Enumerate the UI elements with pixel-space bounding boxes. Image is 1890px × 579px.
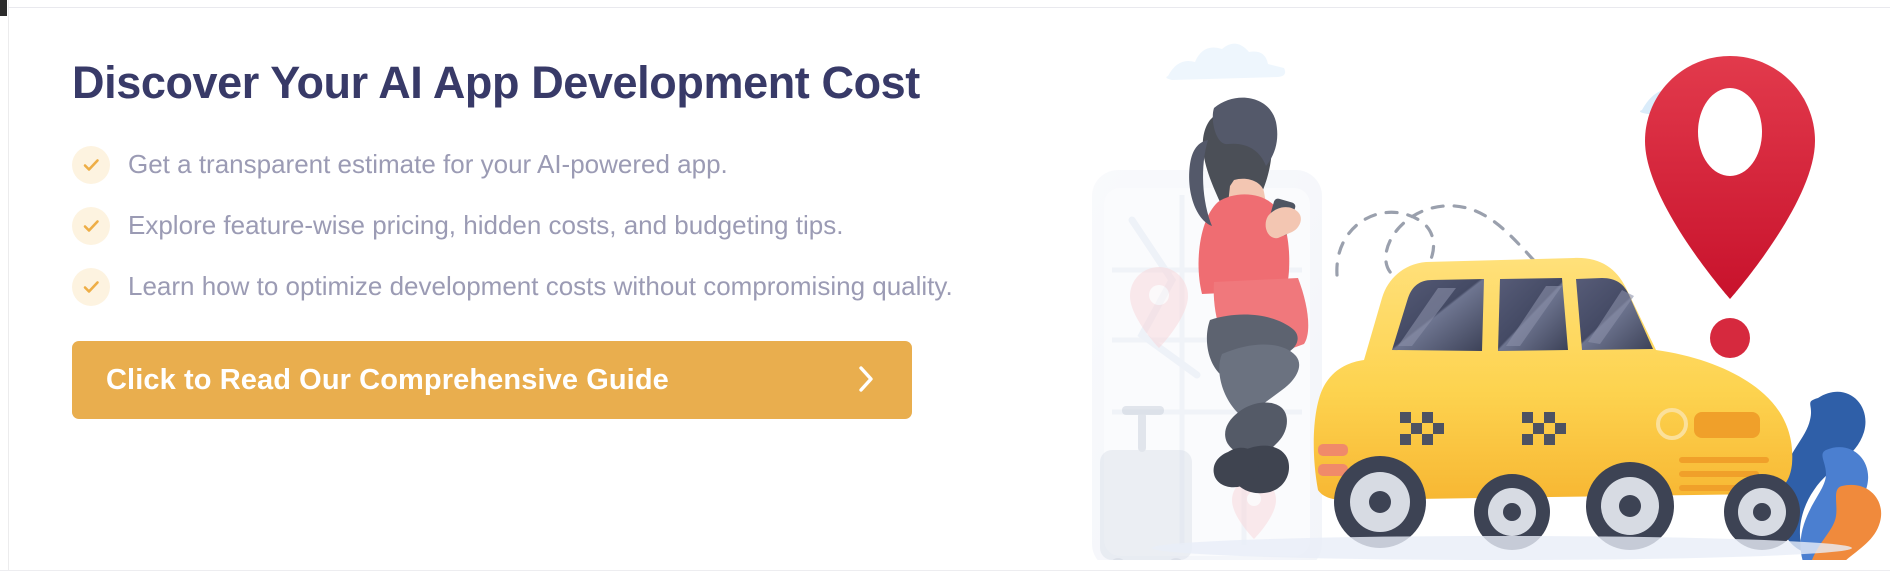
check-icon (72, 146, 110, 184)
location-pin-icon (1232, 478, 1276, 539)
cloud-icon (1640, 65, 1806, 114)
list-item: Explore feature-wise pricing, hidden cos… (72, 195, 1312, 256)
banner-left-edge (0, 0, 9, 579)
decorative-leaves (1777, 392, 1881, 560)
check-icon (72, 268, 110, 306)
banner-bottom-edge (0, 570, 1890, 579)
taxi-sign-text: TAXI (1502, 273, 1544, 294)
corner-marker (0, 0, 7, 16)
list-item-label: Learn how to optimize development costs … (128, 271, 953, 302)
feature-list: Get a transparent estimate for your AI-p… (72, 134, 1312, 317)
suitcase (1100, 406, 1192, 560)
wheel (1334, 456, 1426, 548)
dashed-route-line (1337, 206, 1642, 325)
list-item: Get a transparent estimate for your AI-p… (72, 134, 1312, 195)
list-item-label: Explore feature-wise pricing, hidden cos… (128, 210, 843, 241)
wheel (1586, 462, 1674, 550)
banner-top-edge (0, 0, 1890, 8)
wheel (1724, 474, 1800, 550)
check-icon (72, 207, 110, 245)
list-item: Learn how to optimize development costs … (72, 256, 1312, 317)
taxi-car: TAXI (1311, 258, 1800, 550)
wheel (1474, 474, 1550, 550)
cloud-icon (1378, 370, 1519, 412)
read-guide-button[interactable]: Click to Read Our Comprehensive Guide (72, 341, 912, 419)
banner-content: Discover Your AI App Development Cost Ge… (72, 58, 1312, 419)
location-pin-icon (1645, 56, 1815, 358)
list-item-label: Get a transparent estimate for your AI-p… (128, 149, 728, 180)
page-title: Discover Your AI App Development Cost (72, 58, 1312, 108)
read-guide-button-label: Click to Read Our Comprehensive Guide (106, 364, 669, 397)
chevron-right-icon (856, 364, 876, 397)
cta-banner: TAXI (0, 0, 1890, 579)
